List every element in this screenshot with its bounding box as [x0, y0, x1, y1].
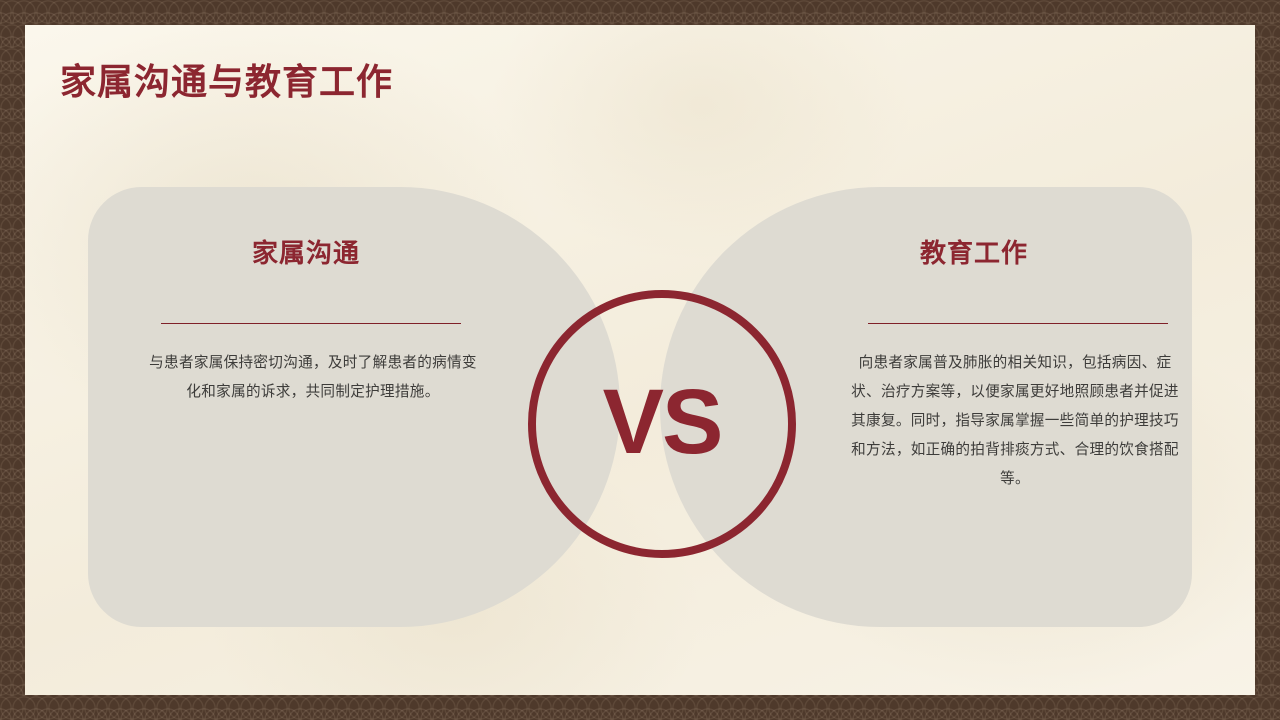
page-title: 家属沟通与教育工作	[60, 53, 393, 105]
vs-circle-badge: VS	[528, 290, 796, 558]
card-left-heading: 家属沟通	[88, 233, 620, 270]
card-left-divider	[161, 323, 461, 324]
slide-frame: 家属沟通与教育工作 家属沟通 与患者家属保持密切沟通，及时了解患者的病情变化和家…	[0, 0, 1280, 720]
card-right-body: 向患者家属普及肺胀的相关知识，包括病因、症状、治疗方案等，以便家属更好地照顾患者…	[850, 349, 1180, 494]
card-left-body: 与患者家属保持密切沟通，及时了解患者的病情变化和家属的诉求，共同制定护理措施。	[143, 349, 483, 407]
card-right-heading: 教育工作	[660, 233, 1192, 270]
slide-page: 家属沟通与教育工作 家属沟通 与患者家属保持密切沟通，及时了解患者的病情变化和家…	[25, 25, 1255, 695]
card-right-divider	[868, 323, 1168, 324]
vs-label: VS	[603, 376, 722, 468]
